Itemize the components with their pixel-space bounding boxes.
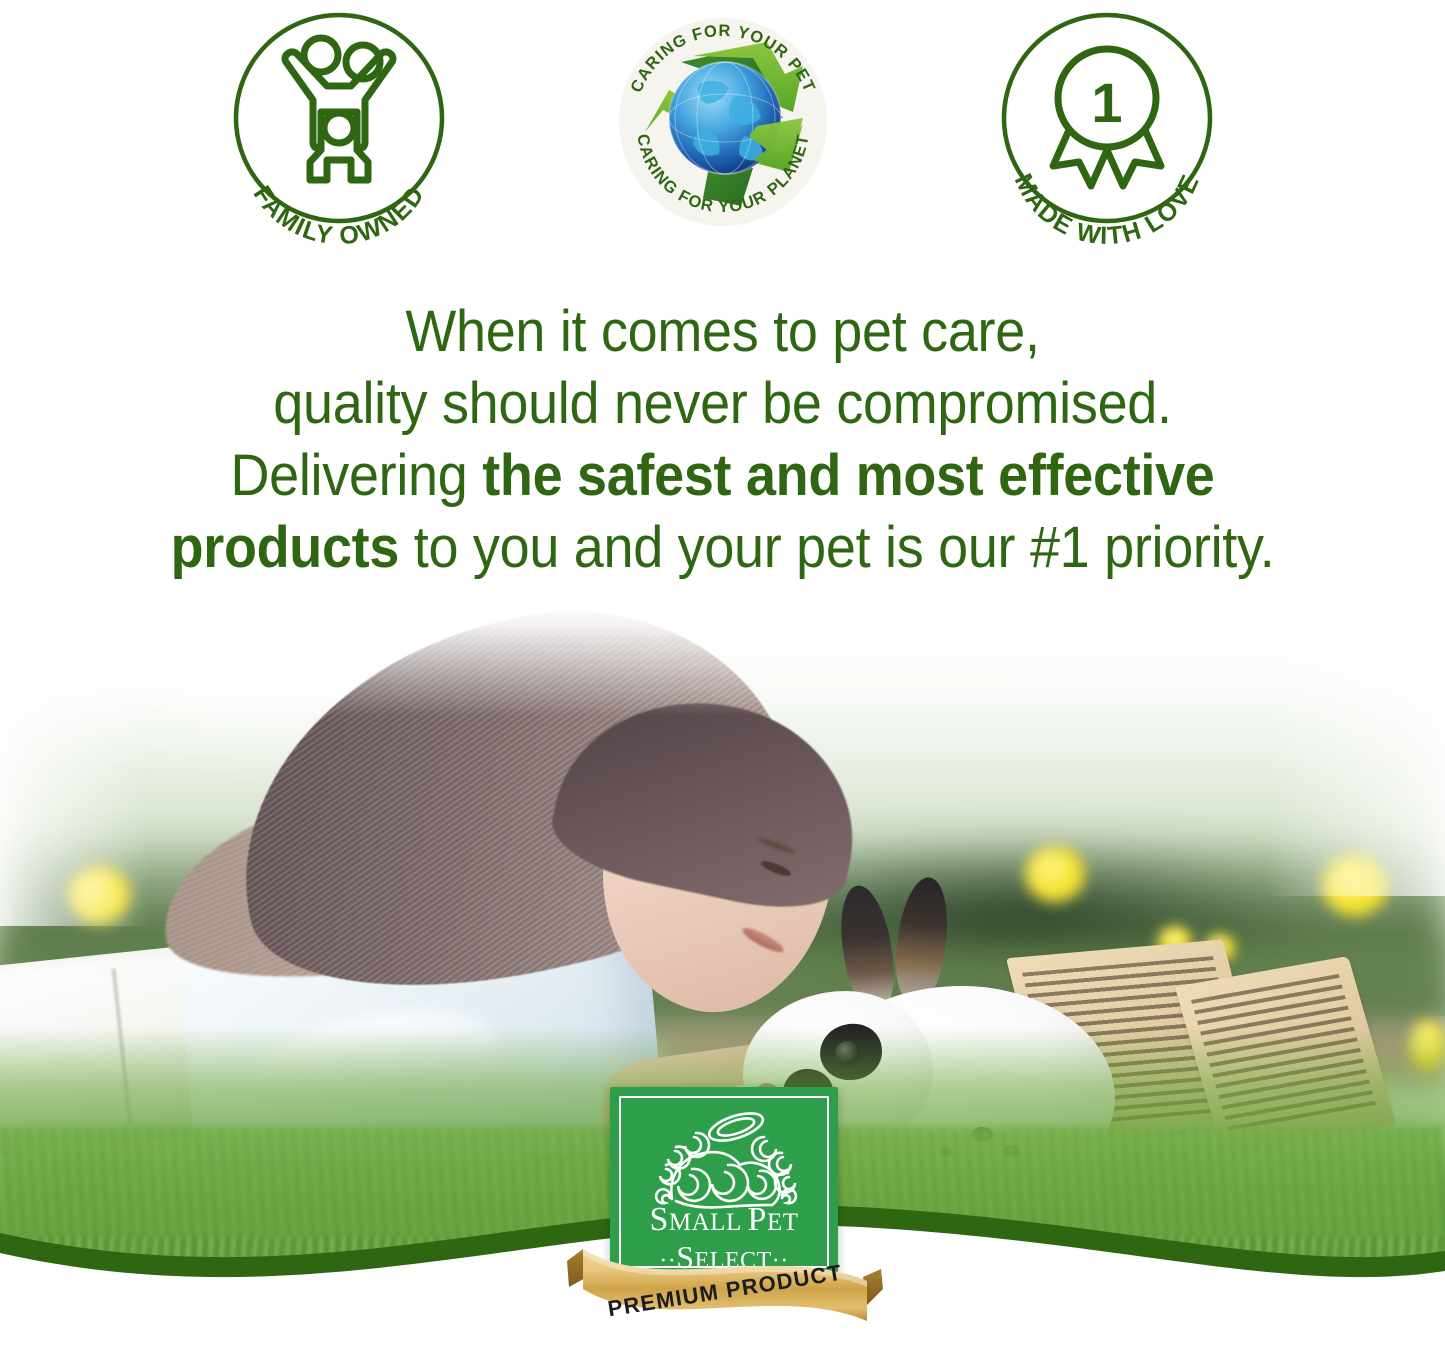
logo-s-cap: S — [649, 1201, 668, 1238]
headline-line-4-bold: products — [171, 515, 400, 580]
badge-caring-planet: CARING FOR YOUR PET CARING FOR YOUR PLAN… — [607, 0, 839, 250]
family-figures-icon: FAMILY OWNED — [223, 0, 455, 250]
headline-line-3: Delivering the safest and most effective — [51, 440, 1395, 512]
rabbit-filigree-icon — [632, 1103, 816, 1211]
svg-text:MADE WITH LOVE: MADE WITH LOVE — [1008, 169, 1205, 250]
headline-line-4: products to you and your pet is our #1 p… — [51, 512, 1395, 584]
headline-line-1: When it comes to pet care, — [51, 296, 1395, 368]
logo-mall: MALL — [669, 1209, 748, 1236]
badge-family-owned-label: FAMILY OWNED — [247, 181, 430, 251]
trust-badge-row: FAMILY OWNED — [0, 0, 1445, 268]
badge-made-with-love: 1 MADE WITH LOVE — [991, 0, 1223, 250]
recycle-globe-icon: CARING FOR YOUR PET CARING FOR YOUR PLAN… — [607, 0, 839, 250]
photo-right-fade — [1265, 596, 1445, 896]
headline-line-4-suffix: to you and your pet is our #1 priority. — [399, 515, 1274, 580]
promo-image: FAMILY OWNED — [0, 0, 1445, 1357]
award-ribbon-icon: 1 MADE WITH LOVE — [991, 0, 1223, 250]
badge-family-owned: FAMILY OWNED — [223, 0, 455, 250]
badge-number: 1 — [1091, 71, 1122, 134]
badge-made-with-love-label: MADE WITH LOVE — [1008, 169, 1205, 250]
headline-line-3-bold: the safest and most effective — [482, 443, 1214, 508]
photo-top-fade — [0, 596, 1445, 716]
headline: When it comes to pet care, quality shoul… — [51, 296, 1395, 584]
headline-line-2: quality should never be compromised. — [51, 368, 1395, 440]
logo-p-cap: P — [748, 1201, 767, 1238]
photo-left-fade — [0, 596, 150, 926]
svg-text:FAMILY OWNED: FAMILY OWNED — [247, 181, 430, 251]
headline-line-3-prefix: Delivering — [230, 443, 482, 508]
rabbit-ear-right — [891, 875, 954, 1005]
